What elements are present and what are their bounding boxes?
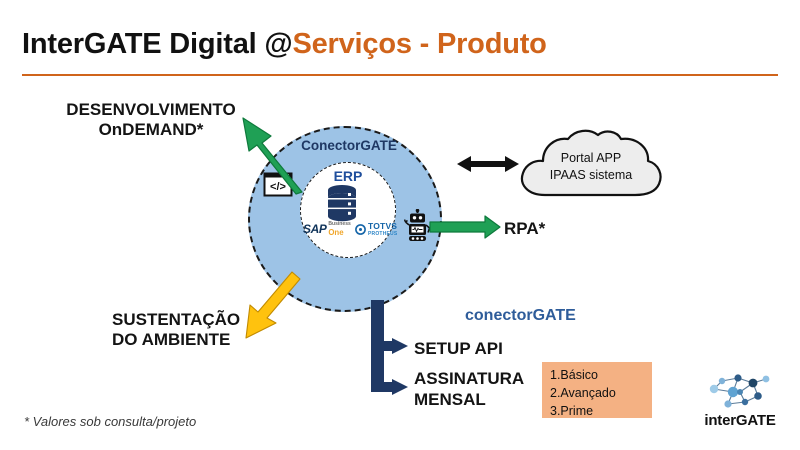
database-icon xyxy=(322,184,362,222)
sap-business-one-logo: SAP Business One xyxy=(303,222,351,236)
intergate-logo: interGATE xyxy=(694,372,786,436)
callout-sustentacao-line1: SUSTENTAÇÃO xyxy=(112,310,282,330)
svg-text:</>: </> xyxy=(270,181,286,193)
cloud-label-line1: Portal APP xyxy=(528,150,654,167)
totvs-protheus-logo: TOTVS PROTHEUS xyxy=(355,222,397,237)
callout-setup-api: SETUP API xyxy=(414,339,503,359)
tier-item-3: 3.Prime xyxy=(550,402,644,420)
tier-item-1: 1.Básico xyxy=(550,366,644,384)
totvs-wordmark: TOTVS xyxy=(368,222,397,231)
arrow-cloud-bidirectional xyxy=(457,156,519,172)
totvs-protheus-text: PROTHEUS xyxy=(368,232,397,237)
tier-list-box: 1.Básico 2.Avançado 3.Prime xyxy=(542,362,652,418)
page-title-black: InterGATE Digital @ xyxy=(22,28,292,60)
code-window-icon: </> xyxy=(263,172,293,197)
label-conectorgate-services: conectorGATE xyxy=(465,307,576,325)
totvs-sublabel: TOTVS PROTHEUS xyxy=(368,222,397,237)
bracket-conectorgate-services xyxy=(371,300,408,395)
callout-desenvolvimento-line2: OnDEMAND* xyxy=(56,120,246,140)
callout-desenvolvimento: DESENVOLVIMENTO OnDEMAND* xyxy=(56,100,246,140)
footnote: * Valores sob consulta/projeto xyxy=(24,414,196,429)
conectorgate-circle-label: ConectorGATE xyxy=(296,138,402,153)
callout-sustentacao: SUSTENTAÇÃO DO AMBIENTE xyxy=(112,310,282,350)
page-title-orange: Serviços - Produto xyxy=(292,28,546,60)
sap-one-text: One xyxy=(328,228,351,236)
slide-canvas: InterGATE Digital @Serviços - Produto DE… xyxy=(0,0,800,450)
tier-item-2: 2.Avançado xyxy=(550,384,644,402)
callout-assinatura-mensal: ASSINATURA MENSAL xyxy=(414,369,544,410)
cloud-label: Portal APP IPAAS sistema xyxy=(528,150,654,183)
callout-rpa: RPA* xyxy=(504,219,545,239)
robot-icon xyxy=(404,209,431,243)
title-divider xyxy=(22,74,778,76)
callout-desenvolvimento-line1: DESENVOLVIMENTO xyxy=(56,100,246,120)
network-graph-icon xyxy=(700,372,778,412)
intergate-wordmark: interGATE xyxy=(694,412,786,429)
page-title: InterGATE Digital @Serviços - Produto xyxy=(22,28,547,61)
sap-sublabel: Business One xyxy=(328,222,351,236)
sap-business-text: Business xyxy=(328,222,351,227)
totvs-circle-icon xyxy=(355,224,366,235)
sap-wordmark: SAP xyxy=(303,222,326,236)
callout-sustentacao-line2: DO AMBIENTE xyxy=(112,330,282,350)
cloud-label-line2: IPAAS sistema xyxy=(528,167,654,184)
erp-circle-label: ERP xyxy=(300,168,396,184)
